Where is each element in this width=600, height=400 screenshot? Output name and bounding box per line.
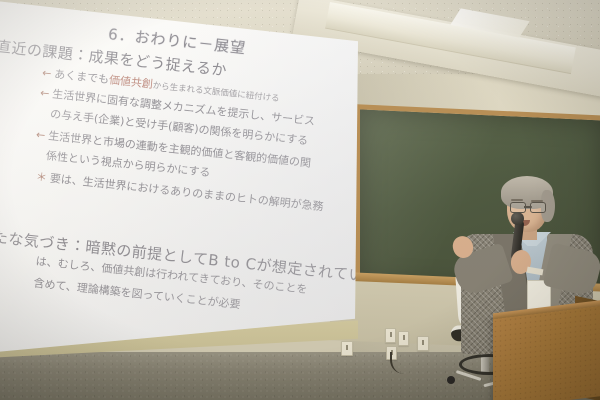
wall-outlet xyxy=(398,331,409,346)
lecture-photo: 6．おわりに－展望 ・直近の課題：成果をどう捉えるか ←あくまでも価値共創から生… xyxy=(0,0,600,400)
asterisk-icon: ＊ xyxy=(35,170,47,184)
wall-outlet xyxy=(417,336,429,351)
projection-screen: 6．おわりに－展望 ・直近の課題：成果をどう捉えるか ←あくまでも価値共創から生… xyxy=(0,0,358,370)
left-arrow-icon: ← xyxy=(36,128,46,142)
podium-grain xyxy=(493,305,600,400)
presenter-brow xyxy=(511,199,523,201)
microphone-head-icon xyxy=(511,212,524,225)
wall-outlet xyxy=(385,328,396,343)
podium xyxy=(493,305,600,400)
sub-item-1-accent: 価値共創 xyxy=(108,73,153,91)
slide-content: 6．おわりに－展望 ・直近の課題：成果をどう捉えるか ←あくまでも価値共創から生… xyxy=(0,0,349,363)
chair-caster xyxy=(447,376,455,384)
sub-item-1-text-before: あくまでも xyxy=(54,68,110,87)
glasses-icon xyxy=(510,202,546,212)
left-arrow-icon: ← xyxy=(42,66,52,80)
left-arrow-icon: ← xyxy=(40,86,50,100)
wall-outlet xyxy=(341,341,353,356)
